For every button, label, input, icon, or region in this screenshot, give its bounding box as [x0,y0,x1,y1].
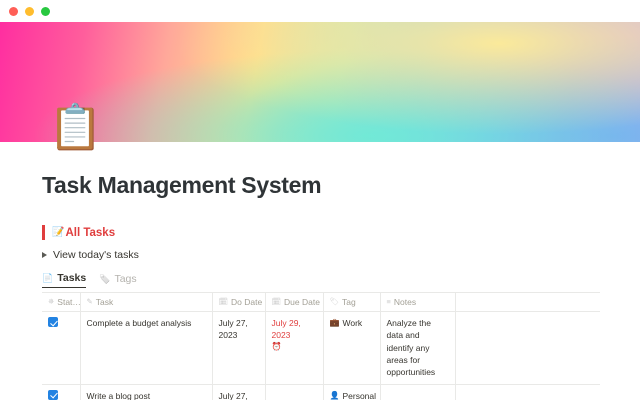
column-header-tag[interactable]: 🏷Tag [323,293,380,312]
page-icon: 📄 [42,274,53,283]
cell-due-date[interactable]: July 29, 2023 ⏰ [265,312,323,385]
column-header-blank[interactable] [455,293,600,312]
all-tasks-heading[interactable]: 📝 All Tasks [42,225,598,240]
cover-banner[interactable]: 📋 [0,22,640,142]
toggle-label: View today's tasks [53,249,139,261]
all-tasks-label: All Tasks [65,227,115,239]
page-content: Task Management System 📝 All Tasks View … [0,172,640,400]
text-lines-icon: ≡ [387,298,391,306]
database-tabs: 📄 Tasks 🏷️ Tags [42,271,598,288]
cell-tag[interactable]: 💼Work [323,312,380,385]
tab-tags[interactable]: 🏷️ Tags [99,273,136,288]
briefcase-icon: 💼 [330,319,340,327]
minimize-button[interactable] [25,7,34,16]
status-checkbox[interactable] [48,390,58,400]
cell-do-date[interactable]: July 27, 2023 [212,312,265,385]
table-body: Complete a budget analysis July 27, 2023… [42,312,600,400]
chevron-right-icon[interactable] [42,252,47,258]
cell-notes[interactable] [380,384,455,400]
status-checkbox[interactable] [48,317,58,327]
tab-tags-label: Tags [114,273,136,285]
edit-square-icon: ✎ [87,298,93,306]
memo-icon: 📝 [52,228,64,238]
cell-notes[interactable]: Analyze the data and identify any areas … [380,312,455,385]
cell-blank[interactable] [455,312,600,385]
cell-task[interactable]: Complete a budget analysis [80,312,212,385]
cell-due-date[interactable] [265,384,323,400]
column-header-task[interactable]: ✎Task [80,293,212,312]
cell-do-date[interactable]: July 27, 2023 [212,384,265,400]
tag-label: Personal [342,390,376,400]
column-header-notes-label: Notes [394,297,416,307]
table-header-row: ✵Stat… ✎Task 🗓Do Date 🗓Due Date 🏷Tag [42,293,600,312]
person-icon: 👤 [330,392,340,400]
calendar-icon: 🗓 [219,298,229,306]
column-header-due-date-label: Due Date [284,297,320,307]
cell-blank[interactable] [455,384,600,400]
column-header-status-label: Stat… [57,297,81,307]
table-row[interactable]: Write a blog post July 27, 2023 👤Persona… [42,384,600,400]
tasks-table: ✵Stat… ✎Task 🗓Do Date 🗓Due Date 🏷Tag [42,292,600,400]
calendar-icon: 🗓 [272,298,282,306]
tab-tasks-label: Tasks [57,272,86,284]
window-titlebar [0,0,640,22]
cell-tag[interactable]: 👤Personal [323,384,380,400]
zoom-button[interactable] [41,7,50,16]
cell-status[interactable] [42,312,80,385]
cell-status[interactable] [42,384,80,400]
tag-label: Work [342,317,362,329]
clipboard-emoji[interactable]: 📋 [48,106,103,150]
app-window: 📋 Task Management System 📝 All Tasks Vie… [0,0,640,400]
close-button[interactable] [9,7,18,16]
tab-tasks[interactable]: 📄 Tasks [42,272,86,288]
column-header-status[interactable]: ✵Stat… [42,293,80,312]
column-header-do-date-label: Do Date [231,297,262,307]
cell-task[interactable]: Write a blog post [80,384,212,400]
alarm-clock-icon: ⏰ [272,342,317,352]
column-header-notes[interactable]: ≡Notes [380,293,455,312]
due-date-value: July 29, 2023 [272,318,301,340]
column-header-tag-label: Tag [342,297,356,307]
column-header-task-label: Task [96,297,113,307]
column-header-do-date[interactable]: 🗓Do Date [212,293,265,312]
view-todays-tasks-toggle[interactable]: View today's tasks [42,249,598,261]
status-spinner-icon: ✵ [48,298,54,306]
table-row[interactable]: Complete a budget analysis July 27, 2023… [42,312,600,385]
column-header-due-date[interactable]: 🗓Due Date [265,293,323,312]
tag-icon: 🏷 [330,298,340,306]
tag-icon: 🏷️ [99,275,110,284]
page-title: Task Management System [42,172,598,199]
